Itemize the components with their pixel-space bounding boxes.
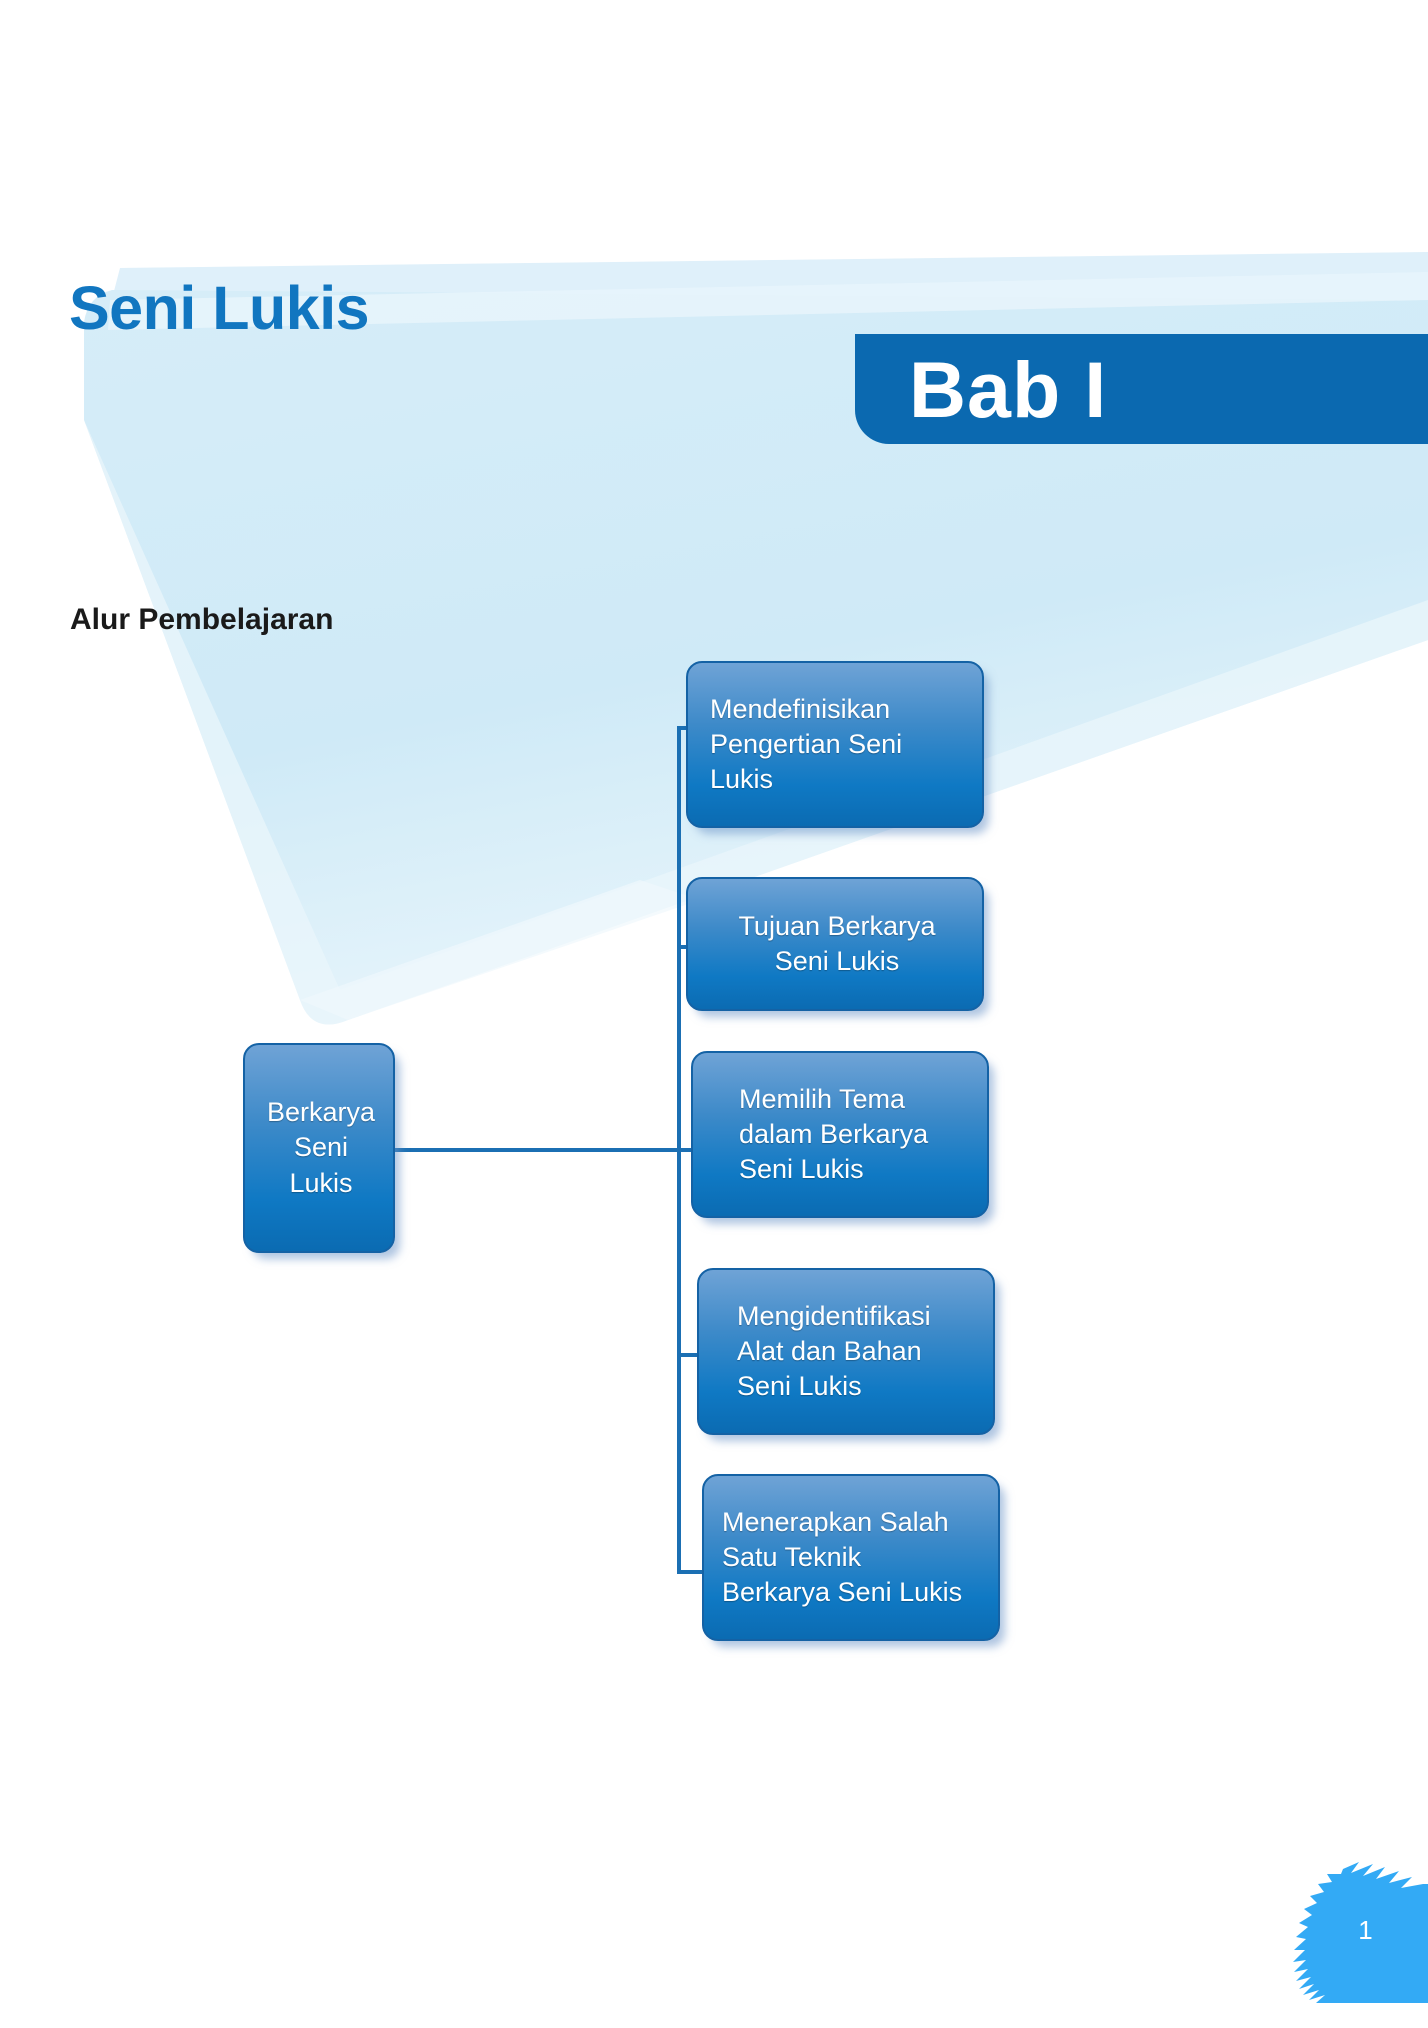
flow-box-alat-line2: Alat dan Bahan [737, 1334, 975, 1369]
flow-box-root-line1: Berkarya [267, 1095, 375, 1130]
flow-box-alat-line1: Mengidentifikasi [737, 1299, 975, 1334]
flow-box-teknik-line2: Satu Teknik [722, 1540, 980, 1575]
flow-box-root[interactable]: Berkarya Seni Lukis [243, 1043, 395, 1253]
flow-box-tema-line2: dalam Berkarya [739, 1117, 969, 1152]
chapter-label: Bab I [909, 350, 1107, 429]
flow-box-definisi-line1: Mendefinisikan [710, 692, 964, 727]
page-title: Seni Lukis [69, 278, 369, 339]
flow-box-root-line2: Seni Lukis [267, 1130, 375, 1200]
connector-root-stem [395, 1148, 681, 1152]
flow-box-teknik[interactable]: Menerapkan Salah Satu Teknik Berkarya Se… [702, 1474, 1000, 1641]
flow-box-teknik-line3: Berkarya Seni Lukis [722, 1575, 980, 1610]
flow-box-definisi[interactable]: Mendefinisikan Pengertian Seni Lukis [686, 661, 984, 828]
book-page: Seni Lukis Bab I Alur Pembelajaran Berka… [0, 0, 1428, 2028]
flow-box-tema-line3: Seni Lukis [739, 1152, 969, 1187]
flow-heading: Alur Pembelajaran [70, 603, 333, 637]
flow-box-teknik-line1: Menerapkan Salah [722, 1505, 980, 1540]
flow-box-tujuan[interactable]: Tujuan Berkarya Seni Lukis [686, 877, 984, 1011]
connector-trunk-upper [677, 726, 681, 1150]
page-number: 1 [1281, 1853, 1428, 2003]
flow-box-alat-line3: Seni Lukis [737, 1369, 975, 1404]
flow-box-tujuan-line2: Seni Lukis [775, 944, 900, 979]
flow-box-tema[interactable]: Memilih Tema dalam Berkarya Seni Lukis [691, 1051, 989, 1218]
flow-box-definisi-line3: Lukis [710, 762, 964, 797]
chapter-banner: Bab I [855, 334, 1428, 444]
flow-box-tema-line1: Memilih Tema [739, 1082, 969, 1117]
connector-trunk-lower [677, 1150, 681, 1572]
page-number-badge: 1 [1281, 1853, 1428, 2003]
flow-box-tujuan-line1: Tujuan Berkarya [738, 909, 935, 944]
flow-box-alat-bahan[interactable]: Mengidentifikasi Alat dan Bahan Seni Luk… [697, 1268, 995, 1435]
flow-box-definisi-line2: Pengertian Seni [710, 727, 964, 762]
